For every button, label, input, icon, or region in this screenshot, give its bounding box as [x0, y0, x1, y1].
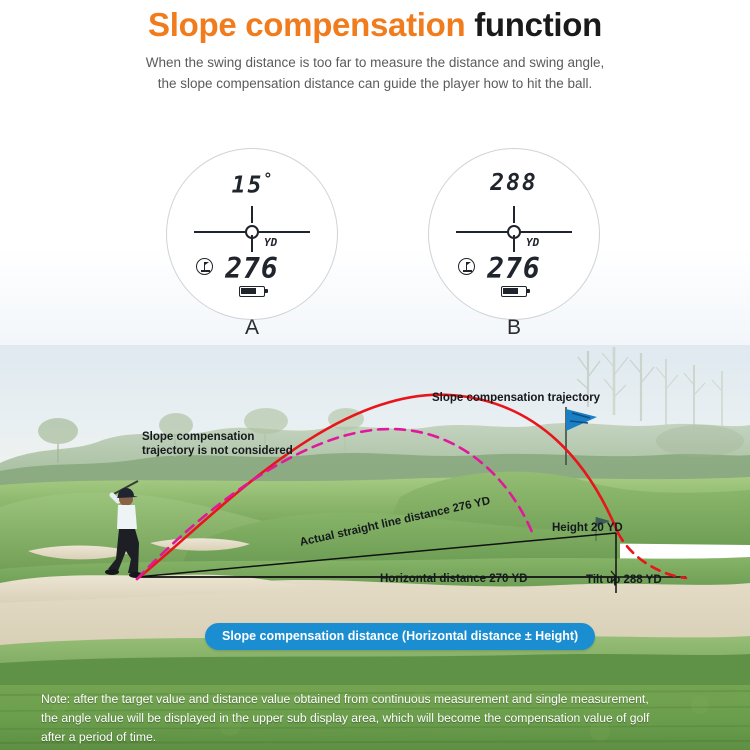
label-tilt-up: Tilt up 288 YD — [586, 573, 662, 587]
page-title-accent: Slope compensation — [148, 6, 465, 43]
crosshair-vertical-bottom-b — [513, 235, 515, 252]
lcd-screen-a: 15° YD 276 — [166, 148, 338, 320]
page-root: Slope compensation function When the swi… — [0, 0, 750, 750]
footer-note-line-3: after a period of time. — [41, 728, 721, 747]
golfer-shirt — [117, 505, 137, 529]
golfer-shoe-left — [105, 569, 119, 575]
footer-note-text: Note: after the target value and distanc… — [41, 690, 721, 747]
lcd-b-tilt-readout: 288 — [428, 170, 600, 196]
bottom-green-dark — [0, 654, 750, 685]
lcd-a-angle-value: 15 — [232, 173, 264, 199]
label-not-considered-line-1: Slope compensation — [142, 430, 293, 444]
label-not-considered: Slope compensation trajectory is not con… — [142, 430, 293, 458]
page-title: Slope compensation function — [0, 6, 750, 44]
footer-note-section: Note: after the target value and distanc… — [0, 685, 750, 750]
lcd-display-a: 15° YD 276 A — [166, 148, 350, 332]
page-title-plain: function — [474, 6, 602, 43]
crosshair-vertical-top-a — [251, 206, 253, 223]
lcd-screen-b: 288 YD 276 — [428, 148, 600, 320]
slope-compensation-distance-banner: Slope compensation distance (Horizontal … — [205, 623, 595, 650]
footer-note-line-1: Note: after the target value and distanc… — [41, 690, 721, 709]
crosshair-vertical-bottom-a — [251, 235, 253, 252]
golf-course-diagram: Slope compensation trajectory Slope comp… — [0, 345, 750, 685]
footer-note-line-2: the angle value will be displayed in the… — [41, 709, 721, 728]
lcd-b-caption: B — [428, 316, 600, 340]
battery-icon — [239, 286, 265, 297]
lcd-b-unit-label: YD — [526, 236, 539, 249]
page-subtitle-line-1: When the swing distance is too far to me… — [0, 52, 750, 73]
battery-icon — [501, 286, 527, 297]
label-slope-compensation-trajectory: Slope compensation trajectory — [432, 391, 600, 405]
page-subtitle-line-2: the slope compensation distance can guid… — [0, 73, 750, 94]
page-subtitle: When the swing distance is too far to me… — [0, 52, 750, 94]
label-not-considered-line-2: trajectory is not considered — [142, 444, 293, 458]
lcd-a-unit-label: YD — [264, 236, 277, 249]
lcd-b-distance-readout: 276 — [428, 252, 600, 285]
label-horizontal-distance: Horizontal distance 270 YD — [380, 572, 527, 586]
lcd-a-caption: A — [166, 316, 338, 340]
crosshair-vertical-top-b — [513, 206, 515, 223]
degree-symbol-icon: ° — [263, 170, 272, 188]
label-height: Height 20 YD — [552, 521, 623, 535]
lcd-b-tilt-value: 288 — [490, 170, 538, 196]
header-section: Slope compensation function When the swi… — [0, 0, 750, 345]
lcd-a-distance-readout: 276 — [166, 252, 338, 285]
lcd-a-angle-readout: 15° — [166, 170, 338, 199]
lcd-display-b: 288 YD 276 B — [428, 148, 612, 332]
